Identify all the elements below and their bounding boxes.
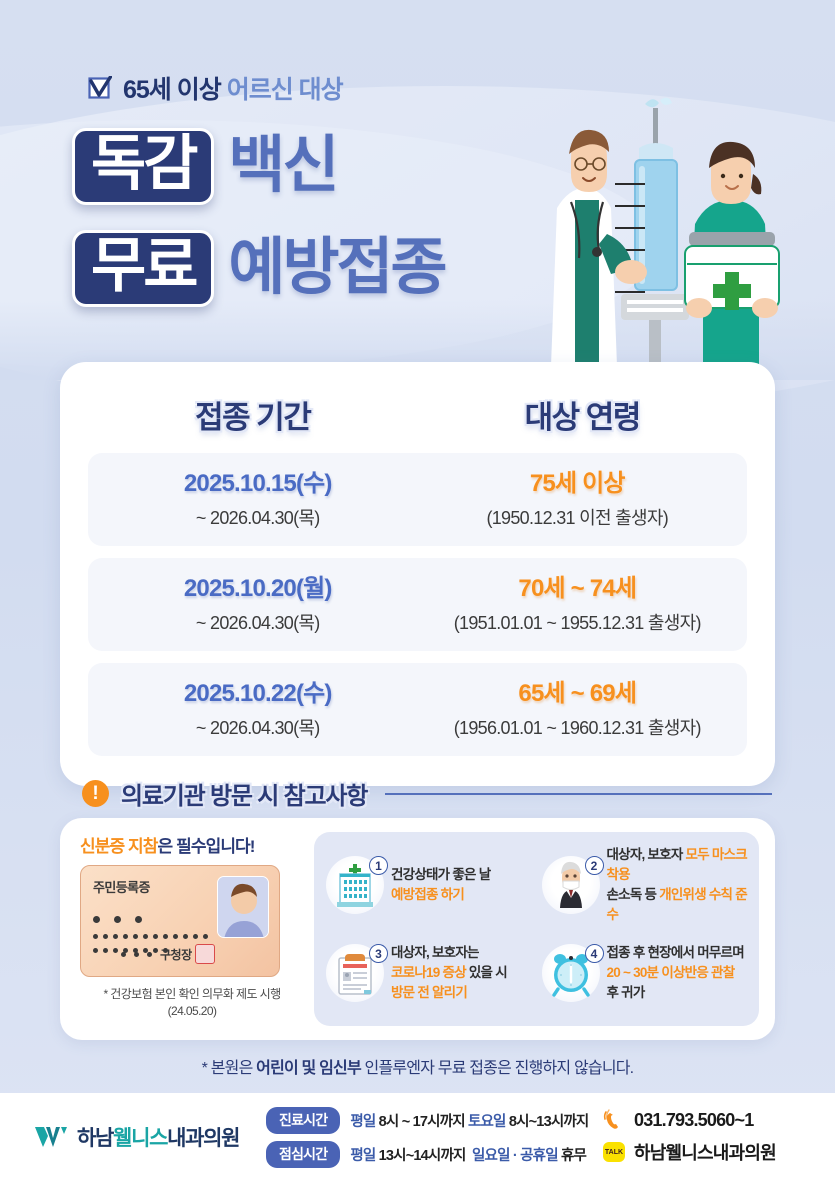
tip-item-2: 2 대상자, 보호자 모두 마스크 착용 손소독 등 개인위생 수칙 준수	[538, 842, 752, 928]
doctor-syringe-nurse-illustration	[527, 96, 827, 366]
age-cell: 70세 ~ 74세 (1951.01.01 ~ 1955.12.31 출생자)	[418, 574, 738, 635]
lunch-weekday-value: 13시~14시까지	[379, 1148, 466, 1164]
wellness-w-logo-icon	[34, 1124, 68, 1150]
table-row: 2025.10.22(수) ~ 2026.04.30(목) 65세 ~ 69세 …	[88, 663, 747, 756]
tip1-line1: 건강상태가 좋은 날	[391, 867, 490, 882]
tip3-line2-hl: 코로나19 증상	[391, 965, 466, 980]
tip1-line2: 예방접종 하기	[391, 887, 464, 902]
tip-number: 2	[585, 856, 604, 875]
tip-item-1: 1 건강상태가 좋은 날 예방접종 하기	[322, 842, 536, 928]
logo-part1: 하남	[77, 1127, 113, 1150]
period-sub: ~ 2026.04.30(목)	[98, 504, 418, 530]
age-sub: (1950.12.31 이전 출생자)	[418, 504, 738, 530]
tip2-line1-plain: 대상자, 보호자	[607, 847, 686, 862]
kicker-text: 65세 이상 어르신 대상	[123, 70, 343, 106]
age-sub: (1956.01.01 ~ 1960.12.31 출생자)	[418, 714, 738, 740]
id-photo-icon	[217, 876, 269, 938]
table-row: 2025.10.15(수) ~ 2026.04.30(목) 75세 이상 (19…	[88, 453, 747, 546]
hours-text-consultation: 평일 8시 ~ 17시까지 토요일 8시~13시까지	[350, 1110, 588, 1131]
tip4-line2-hl: 20 ~ 30분 이상반응 관찰	[607, 965, 735, 980]
tip3-line1: 대상자, 보호자는	[391, 945, 479, 960]
disclaimer-bold: 어린이 및 임신부	[256, 1060, 361, 1077]
syringe-icon	[615, 108, 689, 366]
clinic-logo: 하남웰니스내과의원	[34, 1122, 262, 1152]
kakaotalk-icon: TALK	[603, 1142, 625, 1162]
phone-number: 031.793.5060~1	[634, 1110, 753, 1131]
kakao-badge-label: TALK	[605, 1149, 623, 1156]
age-main: 65세 ~ 69세	[418, 679, 738, 709]
tip3-line2-plain: 있을 시	[466, 965, 507, 980]
title-line-2: 무료 예방접종	[72, 222, 445, 314]
closed-label: 일요일 · 공휴일	[472, 1148, 558, 1164]
age-main: 70세 ~ 74세	[418, 574, 738, 604]
official-seal-icon	[195, 944, 215, 964]
tip3-line3-hl: 방문 전 알리기	[391, 985, 467, 1000]
disclaimer-prefix: * 본원은	[202, 1060, 256, 1077]
id-required-orange: 신분증 지참	[80, 837, 158, 856]
tip4-line2-plain: 후 귀가	[607, 985, 645, 1000]
tips-panel: 1 건강상태가 좋은 날 예방접종 하기	[314, 832, 759, 1026]
title-line-1: 독감 백신	[72, 120, 445, 212]
id-note-line2: (24.05.20)	[168, 1004, 217, 1018]
masked-senior-icon: 2	[542, 856, 600, 914]
age-cell: 65세 ~ 69세 (1956.01.01 ~ 1960.12.31 출생자)	[418, 679, 738, 740]
disclaimer-middle: 인플루엔자 무료 접종은 진행하지 않습니다.	[361, 1060, 633, 1077]
title-tag-free: 무료	[72, 230, 214, 307]
kicker-light: 어르신 대상	[227, 76, 343, 104]
resident-id-card-illustration: 주민등록증 구청장	[80, 865, 280, 977]
weekday-value: 8시 ~ 17시까지	[379, 1114, 465, 1130]
age-cell: 75세 이상 (1950.12.31 이전 출생자)	[418, 469, 738, 530]
tip-number: 1	[369, 856, 388, 875]
period-cell: 2025.10.20(월) ~ 2026.04.30(목)	[98, 574, 418, 635]
notice-title: 의료기관 방문 시 참고사항	[121, 776, 367, 811]
period-main: 2025.10.22(수)	[98, 679, 418, 709]
clipboard-chart-icon: 3	[326, 944, 384, 1002]
kakao-channel-name: 하남웰니스내과의원	[634, 1139, 776, 1165]
notice-section-header: ! 의료기관 방문 시 참고사항	[82, 776, 772, 811]
id-note-line1: * 건강보험 본인 확인 의무화 제도 시행	[103, 987, 280, 1001]
period-sub: ~ 2026.04.30(목)	[98, 609, 418, 635]
lunch-weekday-label: 평일	[350, 1148, 375, 1164]
checkbox-checked-icon	[88, 76, 112, 100]
period-cell: 2025.10.22(수) ~ 2026.04.30(목)	[98, 679, 418, 740]
clinic-name: 하남웰니스내과의원	[77, 1122, 239, 1152]
tip-number: 3	[369, 944, 388, 963]
sat-value: 8시~13시까지	[509, 1114, 589, 1130]
column-header-age: 대상 연령	[525, 400, 640, 435]
id-issuer-label: 구청장	[160, 946, 192, 963]
tip-item-4: 4 접종 후 현장에서 머	[538, 930, 752, 1016]
poster-title: 독감 백신 무료 예방접종	[72, 120, 445, 314]
tip-text-2: 대상자, 보호자 모두 마스크 착용 손소독 등 개인위생 수칙 준수	[607, 845, 748, 926]
notice-divider	[385, 793, 772, 795]
clinic-hours: 진료시간 평일 8시 ~ 17시까지 토요일 8시~13시까지 점심시간 평일 …	[262, 1107, 603, 1168]
notice-card: 신분증 지참은 필수입니다! 주민등록증	[60, 818, 775, 1040]
period-cell: 2025.10.15(수) ~ 2026.04.30(목)	[98, 469, 418, 530]
age-sub: (1951.01.01 ~ 1955.12.31 출생자)	[418, 609, 738, 635]
id-issuer: 구청장	[121, 944, 215, 964]
hospital-building-icon: 1	[326, 856, 384, 914]
title-word-vaccine: 백신	[228, 135, 336, 197]
exclamation-icon: !	[82, 780, 109, 807]
alarm-clock-icon: 4	[542, 944, 600, 1002]
hours-text-lunch: 평일 13시~14시까지 일요일 · 공휴일 휴무	[350, 1144, 586, 1165]
tip-item-3: 3 대상자, 보호자는 코로나19 증상 있을 시 방문 전	[322, 930, 536, 1016]
footer: 하남웰니스내과의원 진료시간 평일 8시 ~ 17시까지 토요일 8시~13시까…	[0, 1093, 835, 1181]
id-card-column: 신분증 지참은 필수입니다! 주민등록증	[76, 832, 304, 1026]
logo-part2: 웰니스	[113, 1127, 167, 1150]
sat-label: 토요일	[468, 1114, 506, 1130]
tip-number: 4	[585, 944, 604, 963]
schedule-column-headers: 접종 기간 대상 연령	[88, 392, 747, 437]
doctor-icon	[551, 130, 647, 366]
tip-text-1: 건강상태가 좋은 날 예방접종 하기	[391, 865, 490, 906]
title-word-vaccination: 예방접종	[228, 237, 444, 299]
table-row: 2025.10.20(월) ~ 2026.04.30(목) 70세 ~ 74세 …	[88, 558, 747, 651]
tip4-line1: 접종 후 현장에서 머무르며	[607, 945, 744, 960]
period-main: 2025.10.15(수)	[98, 469, 418, 499]
tip-text-3: 대상자, 보호자는 코로나19 증상 있을 시 방문 전 알리기	[391, 943, 507, 1004]
nurse-icon	[685, 142, 779, 366]
period-main: 2025.10.20(월)	[98, 574, 418, 604]
schedule-card: 접종 기간 대상 연령 2025.10.15(수) ~ 2026.04.30(목…	[60, 362, 775, 786]
tip2-line2-plain: 손소독 등	[607, 887, 660, 902]
phone-ringing-icon	[603, 1109, 625, 1131]
kicker-dark: 65세 이상	[123, 76, 221, 104]
disclaimer: * 본원은 어린이 및 임신부 인플루엔자 무료 접종은 진행하지 않습니다.	[0, 1054, 835, 1078]
column-header-period: 접종 기간	[195, 400, 310, 435]
hours-pill-lunch: 점심시간	[266, 1141, 340, 1168]
period-sub: ~ 2026.04.30(목)	[98, 714, 418, 740]
closed-value: 휴무	[561, 1148, 586, 1164]
title-tag-flu: 독감	[72, 128, 214, 205]
hours-pill-consultation: 진료시간	[266, 1107, 340, 1134]
droplet-icon	[645, 98, 672, 108]
tip-text-4: 접종 후 현장에서 머무르며 20 ~ 30분 이상반응 관찰 후 귀가	[607, 943, 748, 1004]
kicker: 65세 이상 어르신 대상	[88, 70, 343, 106]
id-required-navy: 은 필수입니다!	[158, 837, 255, 856]
logo-part3: 내과의원	[167, 1127, 239, 1150]
id-required-text: 신분증 지참은 필수입니다!	[80, 832, 304, 857]
hours-row-lunch: 점심시간 평일 13시~14시까지 일요일 · 공휴일 휴무	[266, 1141, 603, 1168]
phone-row[interactable]: 031.793.5060~1	[603, 1109, 813, 1131]
contact-block: 031.793.5060~1 TALK 하남웰니스내과의원	[603, 1109, 813, 1165]
age-main: 75세 이상	[418, 469, 738, 499]
id-note: * 건강보험 본인 확인 의무화 제도 시행 (24.05.20)	[80, 986, 304, 1021]
hours-row-consultation: 진료시간 평일 8시 ~ 17시까지 토요일 8시~13시까지	[266, 1107, 603, 1134]
weekday-label: 평일	[350, 1114, 375, 1130]
kakao-row[interactable]: TALK 하남웰니스내과의원	[603, 1139, 813, 1165]
